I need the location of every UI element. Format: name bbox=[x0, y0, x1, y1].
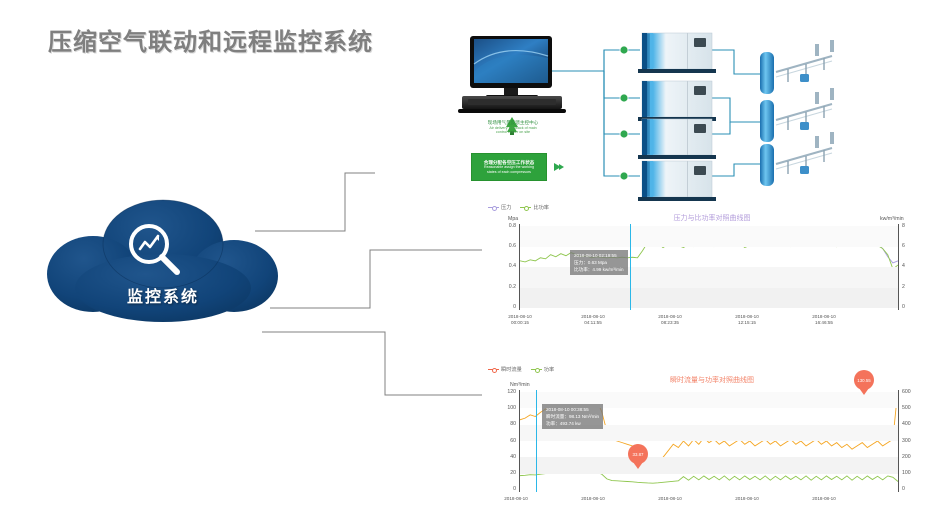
y2tick: 400 bbox=[902, 421, 911, 427]
legend-item-pressure[interactable]: 压力 bbox=[488, 204, 511, 211]
xtick: 2018-08-10 16:46:55 bbox=[796, 314, 852, 325]
y2tick: 8 bbox=[902, 223, 905, 229]
flow-y2-axis-line bbox=[898, 390, 899, 492]
legend-item-specific-power[interactable]: 比功率 bbox=[520, 204, 549, 211]
legend-marker-pressure bbox=[488, 205, 499, 210]
ytick: 0.6 bbox=[492, 243, 516, 249]
xtick-time: 08:23:35 bbox=[661, 320, 679, 325]
green-right-arrow-icon bbox=[553, 160, 565, 172]
ytick: 0 bbox=[492, 304, 516, 310]
pressure-y-axis-unit: Mpa bbox=[508, 216, 518, 222]
xtick: 2018-08-10 12:15:15 bbox=[719, 314, 775, 325]
y2tick: 0 bbox=[902, 304, 905, 310]
tooltip-row-flow: 瞬时流量：98.13 Nm³/min bbox=[546, 413, 599, 420]
flow-power-chart[interactable]: 瞬时流量 功率 瞬时流量与功率对照曲线图 Nm³/min 120 100 80 … bbox=[482, 364, 942, 524]
xtick-date: 2018-08-10 bbox=[508, 314, 532, 319]
xtick-time: 12:15:15 bbox=[738, 320, 756, 325]
air-compressor-icons bbox=[638, 33, 716, 201]
legend-marker-instant-flow bbox=[488, 367, 499, 372]
xtick-time: 16:46:55 bbox=[815, 320, 833, 325]
pressure-cursor-line[interactable] bbox=[630, 224, 631, 310]
legend-label-instant-flow: 瞬时流量 bbox=[501, 366, 522, 373]
flow-chart-legend[interactable]: 瞬时流量 功率 bbox=[488, 366, 554, 373]
ytick: 0.8 bbox=[492, 223, 516, 229]
xtick-time: 04:11:55 bbox=[584, 320, 602, 325]
storage-tank-and-pipeline-icons bbox=[760, 40, 834, 186]
y2tick: 0 bbox=[902, 486, 905, 492]
xtick: 2018-08-10 bbox=[565, 496, 621, 502]
plot-band bbox=[520, 457, 898, 473]
ytick: 0.2 bbox=[492, 284, 516, 290]
status-node-icons bbox=[620, 46, 628, 180]
xtick: 2018-08-10 bbox=[719, 496, 775, 502]
legend-label-power: 功率 bbox=[544, 366, 554, 373]
flow-y-axis-line bbox=[519, 390, 520, 492]
xtick-date: 2018-08-10 bbox=[581, 314, 605, 319]
assign-status-label: 合理分配各空压工作状态 Reasonable assign the workin… bbox=[471, 153, 547, 181]
ytick: 0 bbox=[490, 486, 516, 492]
pressure-y2-axis-unit: kw/m³/min bbox=[880, 216, 904, 222]
ytick: 80 bbox=[490, 421, 516, 427]
flow-y-axis-unit: Nm³/min bbox=[510, 382, 530, 388]
xtick: 2018-08-10 08:23:35 bbox=[642, 314, 698, 325]
ytick: 0.4 bbox=[492, 263, 516, 269]
pressure-tooltip: 2018-08-10 02:19:55 压力：0.63 Mpa 比功率：4.99… bbox=[570, 250, 628, 275]
ytick: 60 bbox=[490, 438, 516, 444]
plot-band bbox=[520, 226, 898, 247]
chart-magnifier-icon bbox=[122, 218, 188, 284]
xtick-date: 2018-08-10 bbox=[812, 314, 836, 319]
y2tick: 300 bbox=[902, 438, 911, 444]
xtick: 2018-08-10 04:11:55 bbox=[565, 314, 621, 325]
legend-label-specific-power: 比功率 bbox=[533, 204, 549, 211]
pressure-chart-title: 压力与比功率对照曲线图 bbox=[482, 213, 942, 223]
xtick-date: 2018-08-10 bbox=[735, 314, 759, 319]
y2tick: 200 bbox=[902, 454, 911, 460]
flow-marker-pin[interactable]: 130.55 bbox=[854, 370, 874, 390]
tooltip-timestamp: 2018-08-10 00:38:55 bbox=[546, 406, 599, 413]
plot-band bbox=[520, 288, 898, 309]
xtick-date: 2018-08-10 bbox=[658, 314, 682, 319]
ytick: 100 bbox=[490, 405, 516, 411]
assign-label-en-2: states of each compressors bbox=[487, 170, 531, 174]
flow-marker-label: 33.87 bbox=[628, 444, 648, 464]
feedback-label-en-2: control center on site bbox=[466, 130, 560, 135]
legend-item-instant-flow[interactable]: 瞬时流量 bbox=[488, 366, 522, 373]
y2tick: 4 bbox=[902, 263, 905, 269]
y2tick: 600 bbox=[902, 389, 911, 395]
tooltip-row-power: 功率：493.74 kw bbox=[546, 420, 599, 427]
pressure-y-axis-line bbox=[519, 224, 520, 310]
ytick: 120 bbox=[490, 389, 516, 395]
xtick: 2018-08-10 bbox=[642, 496, 698, 502]
legend-item-power[interactable]: 功率 bbox=[531, 366, 554, 373]
flow-cursor-line[interactable] bbox=[536, 390, 537, 492]
xtick-time: 00:00:15 bbox=[511, 320, 529, 325]
feedback-label: 现场用气量反馈主控中心 Air delivery feedback of mai… bbox=[466, 120, 560, 135]
flow-tooltip: 2018-08-10 00:38:55 瞬时流量：98.13 Nm³/min 功… bbox=[542, 404, 603, 429]
legend-label-pressure: 压力 bbox=[501, 204, 511, 211]
y2tick: 100 bbox=[902, 470, 911, 476]
flow-marker-label: 130.55 bbox=[854, 370, 874, 390]
cloud-label: 监控系统 bbox=[38, 283, 288, 307]
y2tick: 6 bbox=[902, 243, 905, 249]
ytick: 20 bbox=[490, 470, 516, 476]
pressure-chart-legend[interactable]: 压力 比功率 bbox=[488, 204, 549, 211]
legend-marker-power bbox=[531, 367, 542, 372]
pressure-y2-axis-line bbox=[898, 224, 899, 310]
xtick: 2018-08-10 00:00:15 bbox=[492, 314, 548, 325]
xtick: 2018-08-10 bbox=[796, 496, 852, 502]
legend-marker-specific-power bbox=[520, 205, 531, 210]
tooltip-timestamp: 2018-08-10 02:19:55 bbox=[574, 252, 624, 259]
tooltip-row-pressure: 压力：0.63 Mpa bbox=[574, 259, 624, 266]
desktop-computer-icon bbox=[458, 36, 566, 113]
tooltip-row-specific-power: 比功率：4.99 kw/m³/min bbox=[574, 266, 624, 273]
xtick: 2018-08-10 bbox=[488, 496, 544, 502]
y2tick: 2 bbox=[902, 284, 905, 290]
ytick: 40 bbox=[490, 454, 516, 460]
pressure-chart[interactable]: 压力 比功率 压力与比功率对照曲线图 Mpa kw/m³/min 0.8 0.6… bbox=[482, 202, 942, 336]
y2tick: 500 bbox=[902, 405, 911, 411]
flow-marker-pin[interactable]: 33.87 bbox=[628, 444, 648, 464]
slide-canvas: 压缩空气联动和远程监控系统 bbox=[0, 0, 945, 529]
page-title: 压缩空气联动和远程监控系统 bbox=[48, 22, 373, 57]
